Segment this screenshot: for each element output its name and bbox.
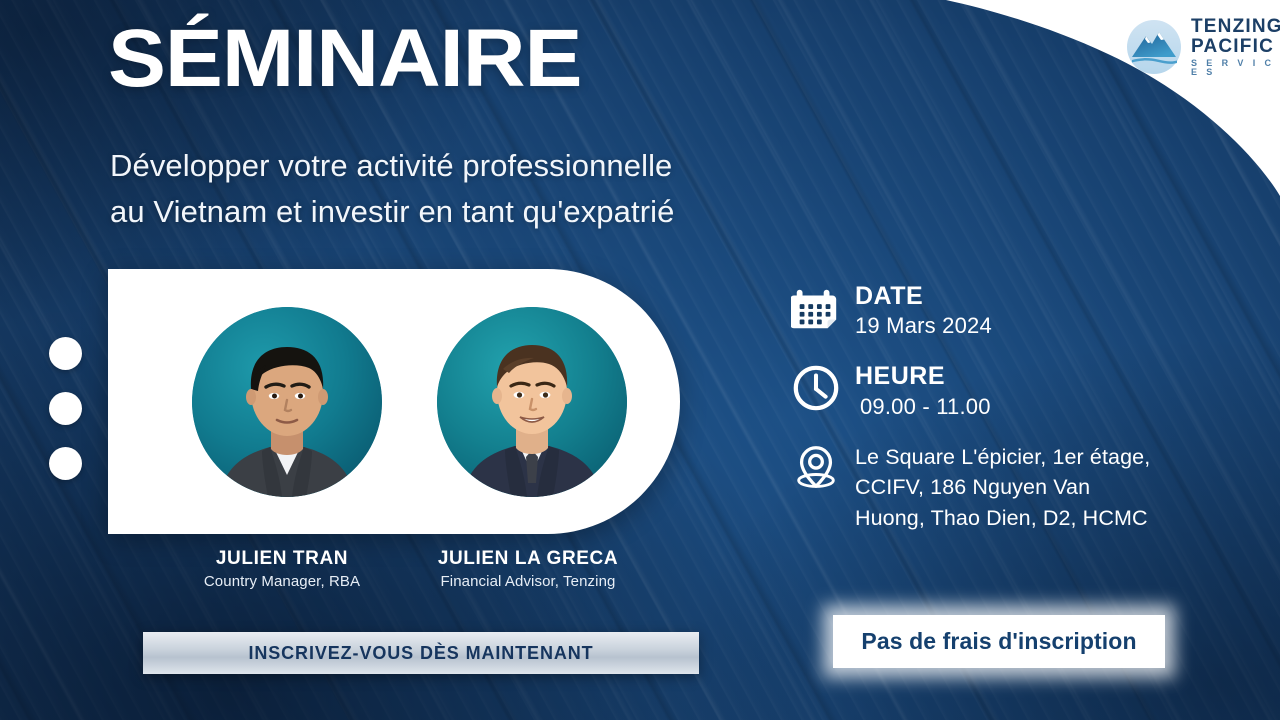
date-label: DATE: [855, 283, 992, 309]
speaker-2-name: JULIEN LA GRECA: [398, 548, 658, 570]
brand-logo: TENZING PACIFIC S E R V I C E S: [1126, 17, 1280, 77]
portrait-julien-la-greca-icon: [437, 307, 627, 497]
address-line-3: Huong, Thao Dien, D2, HCMC: [855, 503, 1150, 534]
decorative-dots: [49, 337, 82, 480]
subtitle-line-1: Développer votre activité professionnell…: [110, 143, 674, 189]
time-value: 09.00 - 11.00: [855, 394, 991, 420]
speaker-photo-2: [437, 307, 627, 497]
event-time-row: HEURE 09.00 - 11.00: [791, 363, 1221, 419]
speaker-2-role: Financial Advisor, Tenzing: [398, 573, 658, 590]
dot-1: [49, 337, 82, 370]
logo-line-1: TENZING: [1191, 17, 1280, 36]
page-title: SÉMINAIRE: [108, 18, 581, 100]
logo-line-2: PACIFIC: [1191, 37, 1280, 56]
seminar-poster: SÉMINAIRE Développer votre activité prof…: [0, 0, 1280, 720]
event-details: DATE 19 Mars 2024 HEURE 09.00 - 11.00: [791, 283, 1221, 533]
date-value: 19 Mars 2024: [855, 313, 992, 339]
speaker-1-name: JULIEN TRAN: [152, 548, 412, 570]
event-date-row: DATE 19 Mars 2024: [791, 283, 1221, 339]
dot-2: [49, 392, 82, 425]
poster-subtitle: Développer votre activité professionnell…: [110, 143, 674, 235]
speakers-card: [108, 269, 680, 534]
speaker-1-info: JULIEN TRAN Country Manager, RBA: [152, 548, 412, 590]
speaker-2-info: JULIEN LA GRECA Financial Advisor, Tenzi…: [398, 548, 658, 590]
subtitle-line-2: au Vietnam et investir en tant qu'expatr…: [110, 189, 674, 235]
time-label: HEURE: [855, 363, 991, 389]
register-cta-label: INSCRIVEZ-VOUS DÈS MAINTENANT: [248, 643, 593, 664]
register-cta-bar[interactable]: INSCRIVEZ-VOUS DÈS MAINTENANT: [143, 632, 699, 674]
mountain-circle-icon: [1126, 19, 1182, 75]
calendar-icon: [791, 283, 847, 338]
address-line-2: CCIFV, 186 Nguyen Van: [855, 472, 1150, 503]
logo-line-3: S E R V I C E S: [1191, 59, 1280, 77]
event-location-row: Le Square L'épicier, 1er étage, CCIFV, 1…: [791, 442, 1221, 534]
dot-3: [49, 447, 82, 480]
map-pin-icon: [791, 442, 847, 497]
speaker-1-role: Country Manager, RBA: [152, 573, 412, 590]
free-registration-label: Pas de frais d'inscription: [861, 628, 1136, 655]
clock-icon: [791, 363, 847, 418]
free-registration-badge: Pas de frais d'inscription: [833, 615, 1165, 668]
speaker-photo-1: [192, 307, 382, 497]
address-line-1: Le Square L'épicier, 1er étage,: [855, 442, 1150, 473]
portrait-julien-tran-icon: [192, 307, 382, 497]
location-address: Le Square L'épicier, 1er étage, CCIFV, 1…: [847, 442, 1150, 534]
